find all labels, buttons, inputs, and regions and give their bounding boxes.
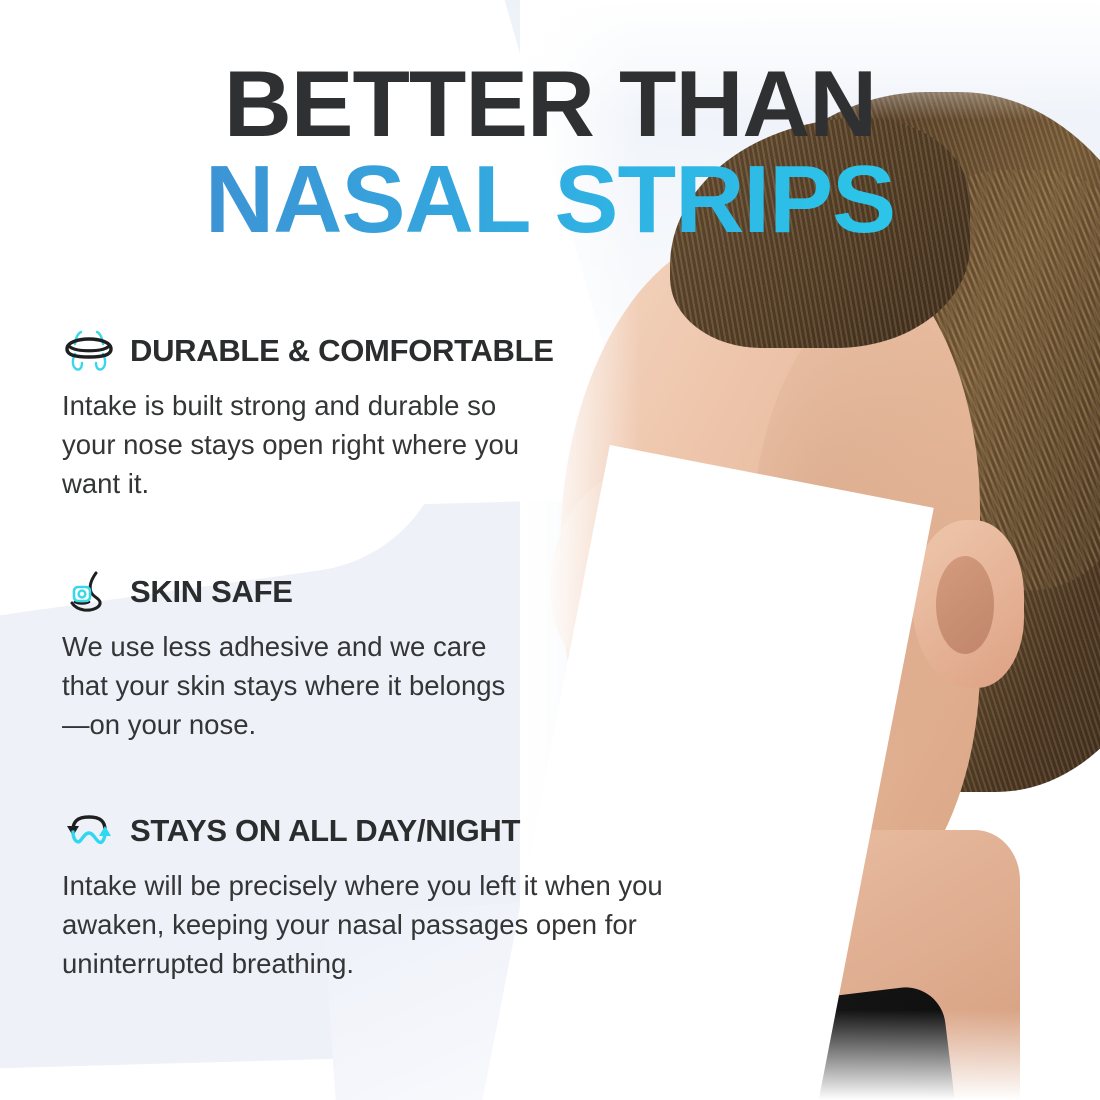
ear-inner	[936, 556, 994, 654]
day-night-cycle-icon	[62, 810, 116, 852]
feature-title: DURABLE & COMFORTABLE	[130, 333, 554, 369]
feature-header: SKIN SAFE	[62, 571, 722, 613]
headline-block: BETTER THAN NASAL STRIPS	[0, 58, 1100, 250]
feature-item-stays-on-all-day-night: STAYS ON ALL DAY/NIGHT Intake will be pr…	[62, 810, 722, 983]
nasal-dilator-icon	[62, 330, 116, 372]
feature-header: STAYS ON ALL DAY/NIGHT	[62, 810, 722, 852]
feature-item-durable-comfortable: DURABLE & COMFORTABLE Intake is built st…	[62, 330, 722, 503]
feature-title: STAYS ON ALL DAY/NIGHT	[130, 813, 520, 849]
face-shading	[750, 300, 1000, 820]
nose-profile-skin-icon	[62, 571, 116, 613]
feature-header: DURABLE & COMFORTABLE	[62, 330, 722, 372]
advertisement-canvas: BETTER THAN NASAL STRIPS DURABLE & COMFO…	[0, 0, 1100, 1100]
feature-item-skin-safe: SKIN SAFE We use less adhesive and we ca…	[62, 571, 722, 744]
ear	[912, 520, 1024, 688]
headline-line-2: NASAL STRIPS	[0, 150, 1100, 250]
neck	[770, 830, 1020, 1100]
feature-body: We use less adhesive and we care that yo…	[62, 627, 532, 744]
headline-line-1: BETTER THAN	[0, 58, 1100, 150]
feature-list: DURABLE & COMFORTABLE Intake is built st…	[62, 330, 722, 1029]
airflow-arrowhead-3	[763, 630, 801, 672]
feature-body: Intake is built strong and durable so yo…	[62, 386, 542, 503]
feature-title: SKIN SAFE	[130, 574, 293, 610]
feature-body: Intake will be precisely where you left …	[62, 866, 687, 983]
